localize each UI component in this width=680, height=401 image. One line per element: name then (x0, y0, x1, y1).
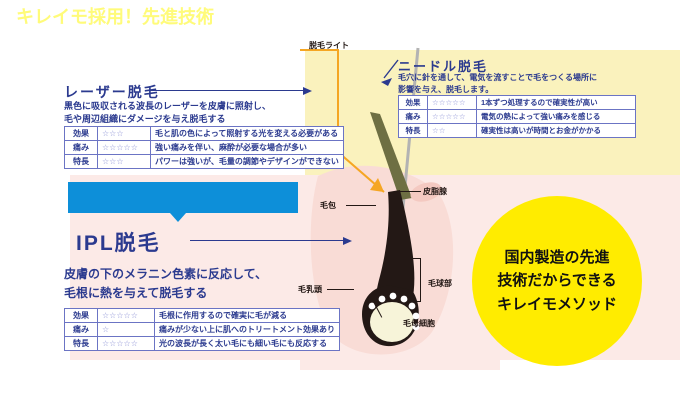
leader-line-papilla (327, 289, 354, 290)
row-stars: ☆☆☆ (98, 127, 151, 141)
table-row: 痛み ☆ 痛みが少ない上に肌へのトリートメント効果あり (65, 323, 340, 337)
label-hair-bulb: 毛球部 (428, 278, 452, 289)
table-row: 特長 ☆☆ 確実性は高いが時間とお金がかかる (399, 124, 636, 138)
row-label: 効果 (65, 309, 98, 323)
row-note: 確実性は高いが時間とお金がかかる (477, 124, 636, 138)
ipl-description: 皮膚の下のメラニン色素に反応して、 毛根に熱を与えて脱毛する (64, 265, 267, 303)
needle-description: 毛穴に針を通して、電気を流すことで毛をつくる場所に 影響を与え、脱毛します。 (398, 72, 597, 95)
needle-pointer-arrow (378, 58, 404, 90)
ipl-banner (68, 182, 298, 213)
leader-line-sebaceous (396, 191, 421, 192)
row-label: 特長 (399, 124, 428, 138)
row-label: 痛み (65, 323, 98, 337)
leader-line-follicle (346, 205, 376, 206)
bracket-hair-bulb (412, 258, 421, 302)
label-sebaceous-gland: 皮脂腺 (423, 186, 447, 197)
method-callout-text: 国内製造の先進 技術だからできる キレイモメソッド (472, 196, 642, 366)
ipl-heading: IPL脱毛 (76, 227, 161, 257)
table-row: 効果 ☆☆☆☆☆ 毛根に作用するので確実に毛が減る (65, 309, 340, 323)
label-hair-follicle: 毛包 (320, 200, 336, 211)
row-label: 痛み (65, 141, 98, 155)
laser-heading: レーザー脱毛 (64, 82, 160, 102)
row-label: 特長 (65, 337, 98, 351)
row-stars: ☆☆☆☆☆ (428, 96, 477, 110)
table-row: 特長 ☆☆☆ パワーは強いが、毛量の調節やデザインができない (65, 155, 344, 169)
table-row: 効果 ☆☆☆ 毛と肌の色によって照射する光を変える必要がある (65, 127, 344, 141)
row-note: 1本ずつ処理するので確実性が高い (477, 96, 636, 110)
row-note: 強い痛みを伴い、麻酔が必要な場合が多い (151, 141, 344, 155)
row-stars: ☆☆☆☆☆ (98, 141, 151, 155)
row-stars: ☆☆☆ (98, 155, 151, 169)
table-row: 痛み ☆☆☆☆☆ 強い痛みを伴い、麻酔が必要な場合が多い (65, 141, 344, 155)
row-stars: ☆☆☆☆☆ (428, 110, 477, 124)
laser-description: 黒色に吸収される波長のレーザーを皮膚に照射し、 毛や周辺組織にダメージを与え脱毛… (64, 100, 271, 126)
laser-arrow-rule (150, 90, 305, 91)
label-dermal-papilla: 毛乳頭 (298, 284, 322, 295)
laser-spec-table: 効果 ☆☆☆ 毛と肌の色によって照射する光を変える必要がある 痛み ☆☆☆☆☆ … (64, 126, 344, 169)
row-stars: ☆☆☆☆☆ (98, 309, 155, 323)
row-note: 光の波長が長く太い毛にも細い毛にも反応する (155, 337, 340, 351)
infographic-canvas: 国内製造の先進 技術だからできる キレイモメソッド レーザー脱毛 黒色に吸収され… (0, 0, 680, 401)
row-label: 特長 (65, 155, 98, 169)
row-stars: ☆☆☆☆☆ (98, 337, 155, 351)
table-row: 特長 ☆☆☆☆☆ 光の波長が長く太い毛にも細い毛にも反応する (65, 337, 340, 351)
row-note: パワーは強いが、毛量の調節やデザインができない (151, 155, 344, 169)
label-hair-matrix-cells: 毛母細胞 (403, 318, 435, 329)
ipl-spec-table: 効果 ☆☆☆☆☆ 毛根に作用するので確実に毛が減る 痛み ☆ 痛みが少ない上に肌… (64, 308, 340, 351)
row-stars: ☆☆ (428, 124, 477, 138)
row-note: 電気の熱によって強い痛みを感じる (477, 110, 636, 124)
table-row: 痛み ☆☆☆☆☆ 電気の熱によって強い痛みを感じる (399, 110, 636, 124)
needle-spec-table: 効果 ☆☆☆☆☆ 1本ずつ処理するので確実性が高い 痛み ☆☆☆☆☆ 電気の熱に… (398, 95, 636, 138)
row-label: 痛み (399, 110, 428, 124)
row-label: 効果 (65, 127, 98, 141)
row-label: 効果 (399, 96, 428, 110)
table-row: 効果 ☆☆☆☆☆ 1本ずつ処理するので確実性が高い (399, 96, 636, 110)
row-note: 毛と肌の色によって照射する光を変える必要がある (151, 127, 344, 141)
label-hair-removal-light: 脱毛ライト (309, 40, 349, 51)
row-stars: ☆ (98, 323, 155, 337)
ipl-banner-pointer (170, 213, 186, 222)
ipl-banner-text: キレイモ採用！先進技術 (0, 0, 230, 31)
row-note: 痛みが少ない上に肌へのトリートメント効果あり (155, 323, 340, 337)
ipl-arrow-rule (190, 240, 345, 241)
row-note: 毛根に作用するので確実に毛が減る (155, 309, 340, 323)
